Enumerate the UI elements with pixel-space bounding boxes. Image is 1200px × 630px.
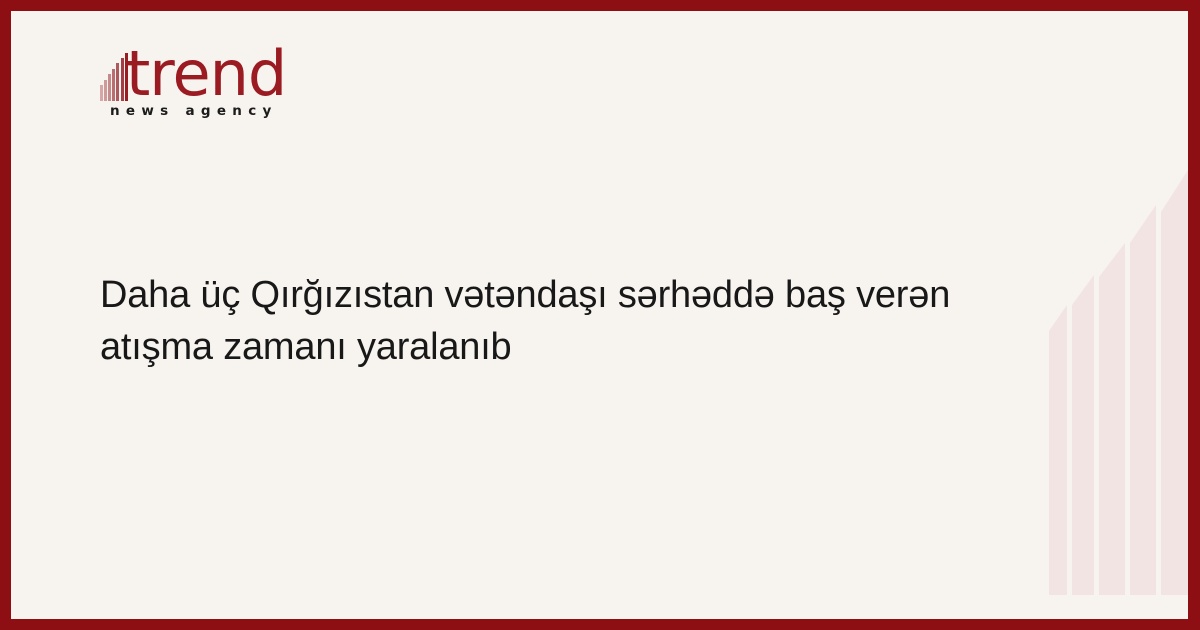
logo-mark-bar bbox=[104, 80, 107, 101]
social-share-card: trend news agency Daha üç Qırğızıstan və… bbox=[0, 0, 1200, 630]
logo-wordmark: trend bbox=[126, 43, 286, 105]
logo-mark-bar bbox=[100, 85, 103, 101]
logo-mark-bar bbox=[116, 63, 119, 101]
watermark-bar bbox=[1072, 275, 1094, 595]
watermark-bar bbox=[1161, 170, 1188, 595]
logo-mark-bar bbox=[121, 58, 124, 101]
article-headline: Daha üç Qırğızıstan vətəndaşı sərhəddə b… bbox=[100, 269, 1025, 373]
watermark-bar bbox=[1130, 205, 1156, 595]
logo-mark-bar bbox=[108, 74, 111, 101]
card-canvas: trend news agency Daha üç Qırğızıstan və… bbox=[11, 11, 1188, 619]
watermark-bar bbox=[1099, 243, 1125, 595]
watermark-bar bbox=[1049, 305, 1067, 595]
logo-tagline: news agency bbox=[110, 103, 278, 119]
trend-logo[interactable]: trend news agency bbox=[100, 43, 400, 143]
logo-mark-bar bbox=[112, 69, 115, 101]
ascending-bars-watermark bbox=[1033, 165, 1188, 595]
